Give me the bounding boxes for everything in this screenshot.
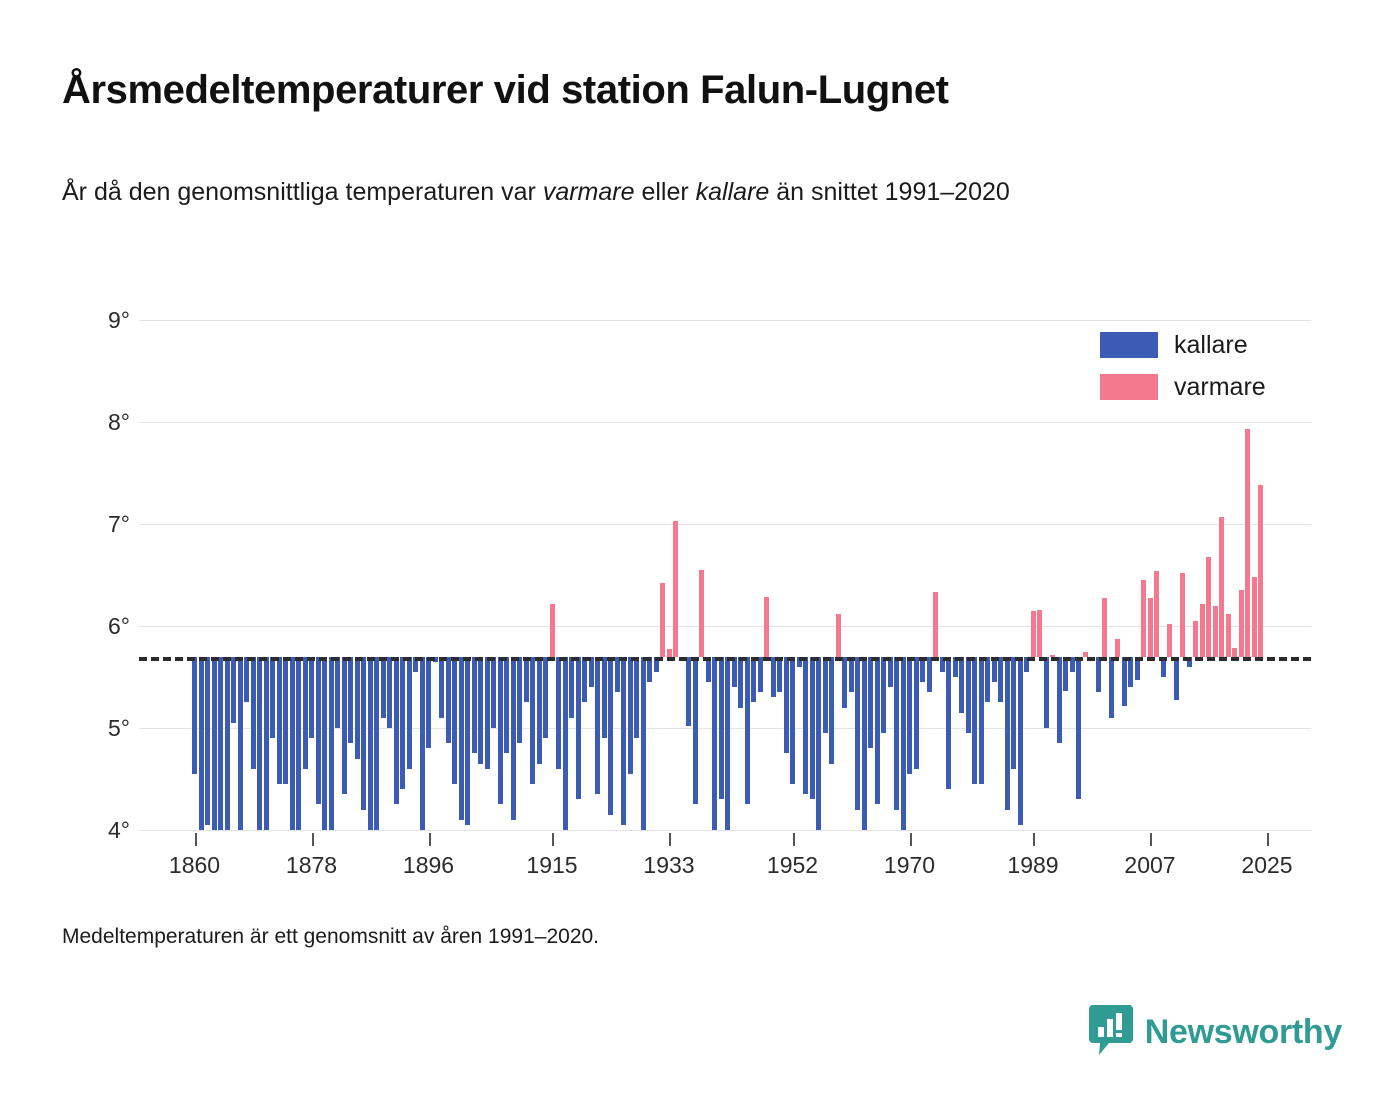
x-axis-label-2025: 2025 (1241, 852, 1292, 879)
bar-1974[interactable] (933, 592, 938, 656)
bar-1882[interactable] (335, 657, 340, 728)
x-axis-tick-1896 (429, 833, 431, 846)
bar-1884[interactable] (348, 657, 353, 744)
x-axis-label-1860: 1860 (169, 852, 220, 879)
bar-1907[interactable] (498, 657, 503, 805)
bar-1893[interactable] (407, 657, 412, 769)
bar-1900[interactable] (452, 657, 457, 785)
bar-2003[interactable] (1122, 657, 1127, 706)
bar-1945[interactable] (745, 657, 750, 805)
bar-1869[interactable] (251, 657, 256, 769)
bar-1872[interactable] (270, 657, 275, 739)
chart-footnote: Medeltemperaturen är ett genomsnitt av å… (62, 925, 599, 949)
x-axis-label-1989: 1989 (1007, 852, 1058, 879)
bar-1865[interactable] (225, 657, 230, 830)
legend-label-kallare: kallare (1174, 331, 1248, 360)
bar-1965[interactable] (875, 657, 880, 805)
page-title: Årsmedeltemperaturer vid station Falun-L… (62, 68, 949, 113)
x-axis-label-1915: 1915 (526, 852, 577, 879)
bar-1984[interactable] (998, 657, 1003, 703)
bar-1866[interactable] (231, 657, 236, 723)
bar-1895[interactable] (420, 657, 425, 830)
bar-2000[interactable] (1102, 598, 1107, 656)
x-axis-label-1878: 1878 (286, 852, 337, 879)
bar-1985[interactable] (1005, 657, 1010, 810)
bar-1875[interactable] (290, 657, 295, 830)
x-axis-label-1970: 1970 (884, 852, 935, 879)
bar-1921[interactable] (589, 657, 594, 688)
x-axis-tick-1989 (1033, 833, 1035, 846)
subtitle-emphasis-varmare: varmare (543, 178, 635, 206)
bar-1892[interactable] (400, 657, 405, 790)
bar-1927[interactable] (628, 657, 633, 774)
bar-1901[interactable] (459, 657, 464, 820)
subtitle-text-3: än snittet 1991–2020 (769, 178, 1009, 206)
subtitle-text-2: eller (635, 178, 696, 206)
newsworthy-mark-icon (1089, 1005, 1133, 1060)
x-axis-tick-1933 (669, 833, 671, 846)
bar-1980[interactable] (972, 657, 977, 785)
bar-2006[interactable] (1141, 580, 1146, 657)
bar-1966[interactable] (881, 657, 886, 734)
bar-2008[interactable] (1154, 571, 1159, 657)
bar-1942[interactable] (725, 657, 730, 830)
bar-2012[interactable] (1180, 573, 1185, 657)
bar-1949[interactable] (771, 657, 776, 698)
newsworthy-wordmark: Newsworthy (1145, 1013, 1342, 1052)
bar-1873[interactable] (277, 657, 282, 785)
bar-1887[interactable] (368, 657, 373, 830)
bar-1943[interactable] (732, 657, 737, 688)
bar-1947[interactable] (758, 657, 763, 693)
bar-1929[interactable] (641, 657, 646, 830)
bar-1878[interactable] (309, 657, 314, 739)
bar-1860[interactable] (192, 657, 197, 774)
bar-1969[interactable] (901, 657, 906, 830)
bar-1885[interactable] (355, 657, 360, 759)
bar-2004[interactable] (1128, 657, 1133, 688)
chart-legend: kallare varmare (1100, 328, 1266, 412)
bar-1880[interactable] (322, 657, 327, 830)
bar-2022[interactable] (1245, 429, 1250, 656)
bar-1910[interactable] (517, 657, 522, 744)
bar-1896[interactable] (426, 657, 431, 749)
x-axis-tick-2007 (1150, 833, 1152, 846)
bar-1937[interactable] (693, 657, 698, 805)
legend-item-varmare[interactable]: varmare (1100, 370, 1266, 404)
bar-1941[interactable] (719, 657, 724, 800)
y-axis-label-7: 7° (70, 511, 130, 538)
bar-1963[interactable] (862, 657, 867, 830)
bar-1919[interactable] (576, 657, 581, 800)
bar-1986[interactable] (1011, 657, 1016, 769)
bar-2023[interactable] (1252, 577, 1257, 657)
bar-1913[interactable] (537, 657, 542, 764)
bar-1999[interactable] (1096, 657, 1101, 693)
bar-2020[interactable] (1232, 648, 1237, 656)
bar-1973[interactable] (927, 657, 932, 693)
bar-1867[interactable] (238, 657, 243, 830)
legend-item-kallare[interactable]: kallare (1100, 328, 1266, 362)
bar-2010[interactable] (1167, 624, 1172, 657)
bar-1946[interactable] (751, 657, 756, 703)
bar-1958[interactable] (829, 657, 834, 764)
bar-1934[interactable] (673, 521, 678, 657)
bar-1870[interactable] (257, 657, 262, 830)
bar-1990[interactable] (1037, 610, 1042, 657)
y-axis-label-5: 5° (70, 715, 130, 742)
bar-1936[interactable] (686, 657, 691, 726)
bar-2024[interactable] (1258, 485, 1263, 656)
bar-1922[interactable] (595, 657, 600, 795)
bar-1883[interactable] (342, 657, 347, 795)
bar-1959[interactable] (836, 614, 841, 657)
x-axis-tick-1860 (195, 833, 197, 846)
bar-2018[interactable] (1219, 517, 1224, 657)
x-axis-label-2007: 2007 (1124, 852, 1175, 879)
bar-1994[interactable] (1063, 657, 1068, 692)
bar-1993[interactable] (1057, 657, 1062, 744)
bar-2016[interactable] (1206, 557, 1211, 657)
bar-1957[interactable] (823, 657, 828, 734)
x-axis-label-1933: 1933 (643, 852, 694, 879)
y-axis-label-6: 6° (70, 613, 130, 640)
bar-1920[interactable] (582, 657, 587, 703)
bar-1951[interactable] (784, 657, 789, 754)
bar-1952[interactable] (790, 657, 795, 785)
bar-2011[interactable] (1174, 657, 1179, 701)
bar-1967[interactable] (888, 657, 893, 688)
bar-1863[interactable] (212, 657, 217, 830)
chart-page: Årsmedeltemperaturer vid station Falun-L… (0, 0, 1400, 1116)
bar-1970[interactable] (907, 657, 912, 774)
bar-1916[interactable] (556, 657, 561, 769)
bar-1955[interactable] (810, 657, 815, 800)
bar-1864[interactable] (218, 657, 223, 830)
baseline-average-line (139, 657, 1311, 661)
bar-1891[interactable] (394, 657, 399, 805)
bar-1978[interactable] (959, 657, 964, 713)
bar-1915[interactable] (550, 604, 555, 657)
bar-1940[interactable] (712, 657, 717, 830)
bar-1923[interactable] (602, 657, 607, 739)
bar-1971[interactable] (914, 657, 919, 769)
bar-1981[interactable] (979, 657, 984, 785)
chart-x-axis: 1860187818961915193319521970198920072025 (139, 830, 1311, 890)
bar-1932[interactable] (660, 583, 665, 656)
legend-swatch-kallare-icon (1100, 332, 1158, 358)
bar-2007[interactable] (1148, 598, 1153, 656)
x-axis-tick-2025 (1267, 833, 1269, 846)
bar-1938[interactable] (699, 570, 704, 657)
subtitle-emphasis-kallare: kallare (696, 178, 770, 206)
x-axis-tick-1915 (552, 833, 554, 846)
bar-1991[interactable] (1044, 657, 1049, 728)
bar-1902[interactable] (465, 657, 470, 825)
bar-2015[interactable] (1200, 604, 1205, 657)
bar-1898[interactable] (439, 657, 444, 718)
bar-1976[interactable] (946, 657, 951, 790)
bar-1961[interactable] (849, 657, 854, 693)
bar-1903[interactable] (472, 657, 477, 754)
x-axis-label-1952: 1952 (767, 852, 818, 879)
bar-2019[interactable] (1226, 614, 1231, 657)
bar-1886[interactable] (361, 657, 366, 810)
x-axis-tick-1878 (312, 833, 314, 846)
bar-1905[interactable] (485, 657, 490, 769)
bar-1862[interactable] (205, 657, 210, 825)
bar-1926[interactable] (621, 657, 626, 825)
bar-1996[interactable] (1076, 657, 1081, 800)
bar-1960[interactable] (842, 657, 847, 708)
bar-1877[interactable] (303, 657, 308, 769)
bar-1954[interactable] (803, 657, 808, 795)
bar-2001[interactable] (1109, 657, 1114, 718)
bar-2021[interactable] (1239, 590, 1244, 656)
bar-1861[interactable] (199, 657, 204, 830)
bar-1912[interactable] (530, 657, 535, 785)
legend-label-varmare: varmare (1174, 373, 1266, 402)
bar-1917[interactable] (563, 657, 568, 830)
x-axis-label-1896: 1896 (403, 852, 454, 879)
bar-1925[interactable] (615, 657, 620, 693)
bar-1906[interactable] (491, 657, 496, 728)
bar-1868[interactable] (244, 657, 249, 703)
y-axis-label-9: 9° (70, 307, 130, 334)
bar-1989[interactable] (1031, 611, 1036, 657)
bar-1911[interactable] (524, 657, 529, 703)
bar-1962[interactable] (855, 657, 860, 810)
bar-1950[interactable] (777, 657, 782, 693)
bar-1909[interactable] (511, 657, 516, 820)
x-axis-line (139, 830, 1311, 831)
newsworthy-logo[interactable]: Newsworthy (1089, 1005, 1342, 1060)
bar-2002[interactable] (1115, 639, 1120, 656)
x-axis-tick-1952 (793, 833, 795, 846)
bar-1899[interactable] (446, 657, 451, 744)
bar-1888[interactable] (374, 657, 379, 830)
bar-1874[interactable] (283, 657, 288, 785)
y-axis-label-8: 8° (70, 409, 130, 436)
bar-1964[interactable] (868, 657, 873, 749)
bar-1944[interactable] (738, 657, 743, 708)
bar-1956[interactable] (816, 657, 821, 830)
bar-1982[interactable] (985, 657, 990, 703)
bar-1933[interactable] (667, 649, 672, 656)
subtitle-text-1: År då den genomsnittliga temperaturen va… (62, 178, 543, 206)
bar-1908[interactable] (504, 657, 509, 754)
bar-1890[interactable] (387, 657, 392, 728)
bar-1987[interactable] (1018, 657, 1023, 825)
bar-1968[interactable] (894, 657, 899, 810)
legend-swatch-varmare-icon (1100, 374, 1158, 400)
bar-1924[interactable] (608, 657, 613, 815)
bar-1928[interactable] (634, 657, 639, 739)
y-axis-label-4: 4° (70, 817, 130, 844)
page-subtitle: År då den genomsnittliga temperaturen va… (62, 172, 1292, 212)
bar-2017[interactable] (1213, 606, 1218, 657)
bar-1889[interactable] (381, 657, 386, 718)
bar-2014[interactable] (1193, 621, 1198, 657)
bar-1979[interactable] (966, 657, 971, 734)
bar-1871[interactable] (264, 657, 269, 830)
bar-1881[interactable] (329, 657, 334, 830)
bar-1918[interactable] (569, 657, 574, 718)
bar-1948[interactable] (764, 597, 769, 656)
bar-1879[interactable] (316, 657, 321, 805)
bar-1914[interactable] (543, 657, 548, 739)
bar-1904[interactable] (478, 657, 483, 764)
bar-1876[interactable] (296, 657, 301, 830)
x-axis-tick-1970 (910, 833, 912, 846)
